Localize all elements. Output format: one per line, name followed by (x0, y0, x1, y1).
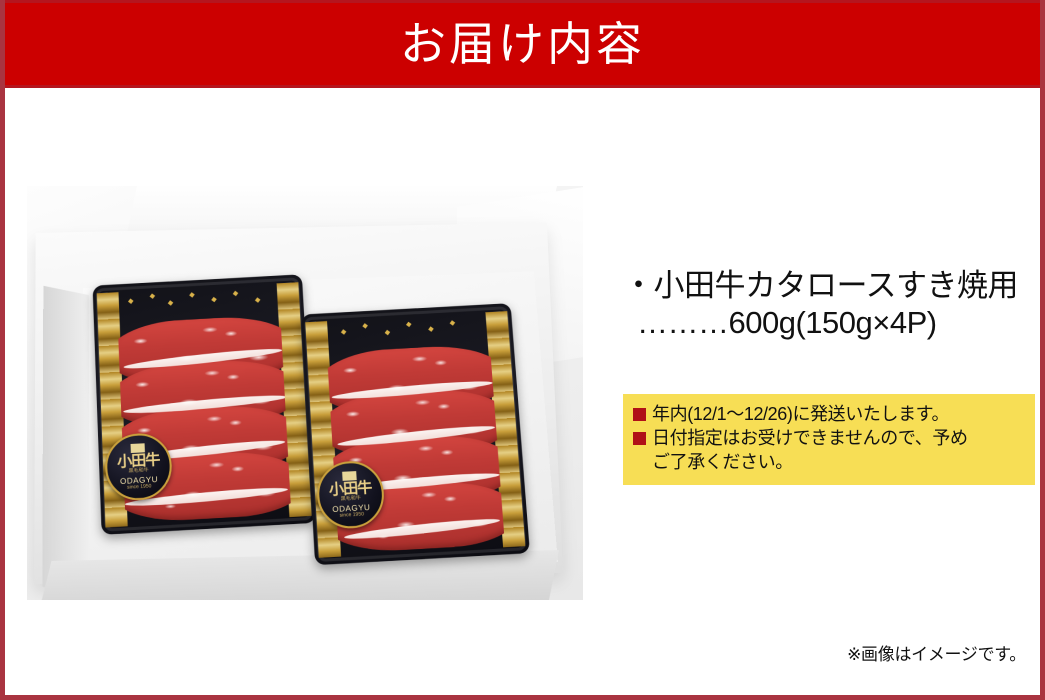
product-name: ・小田牛カタロースすき焼用 (623, 268, 1035, 305)
beef-tray-right: 小田牛 黒毛和牛 ODAGYU since 1950 (301, 303, 530, 565)
gift-box: 小田牛 黒毛和牛 ODAGYU since 1950 (34, 222, 563, 584)
delivery-contents-page: お届け内容 (0, 0, 1045, 700)
header-banner: お届け内容 (0, 0, 1045, 88)
product-description: ・小田牛カタロースすき焼用 ………600g(150g×4P) (623, 268, 1035, 341)
odagyu-crest-icon (342, 471, 357, 481)
red-square-bullet-icon (633, 408, 646, 421)
image-disclaimer: ※画像はイメージです。 (847, 640, 1026, 665)
notice-item-continuation: ご了承ください。 (633, 451, 1025, 475)
odagyu-crest-icon (131, 443, 145, 453)
shipping-notice-box: 年内(12/1～12/26)に発送いたします。 日付指定はお受けできませんので、… (623, 394, 1035, 485)
notice-item-shipping-period: 年内(12/1～12/26)に発送いたします。 (633, 403, 1025, 427)
product-weight: ………600g(150g×4P) (623, 305, 1035, 342)
beef-tray-left: 小田牛 黒毛和牛 ODAGYU since 1950 (93, 274, 317, 535)
photo-background: 小田牛 黒毛和牛 ODAGYU since 1950 (27, 186, 583, 600)
seal-subtext: 黒毛和牛 (341, 496, 361, 502)
notice-text: 年内(12/1～12/26)に発送いたします。 (652, 403, 1025, 427)
seal-since: since 1950 (339, 513, 364, 519)
notice-text: 日付指定はお受けできませんので、予め (652, 427, 1025, 451)
seal-subtext: 黒毛和牛 (128, 468, 148, 474)
product-photo: 小田牛 黒毛和牛 ODAGYU since 1950 (27, 186, 583, 600)
notice-text: ご了承ください。 (652, 451, 1025, 475)
seal-since: since 1950 (127, 485, 152, 491)
notice-item-no-date-selection: 日付指定はお受けできませんので、予め (633, 427, 1025, 451)
box-wall-left (42, 286, 89, 597)
page-title: お届け内容 (400, 21, 645, 67)
red-square-bullet-icon (633, 432, 646, 445)
